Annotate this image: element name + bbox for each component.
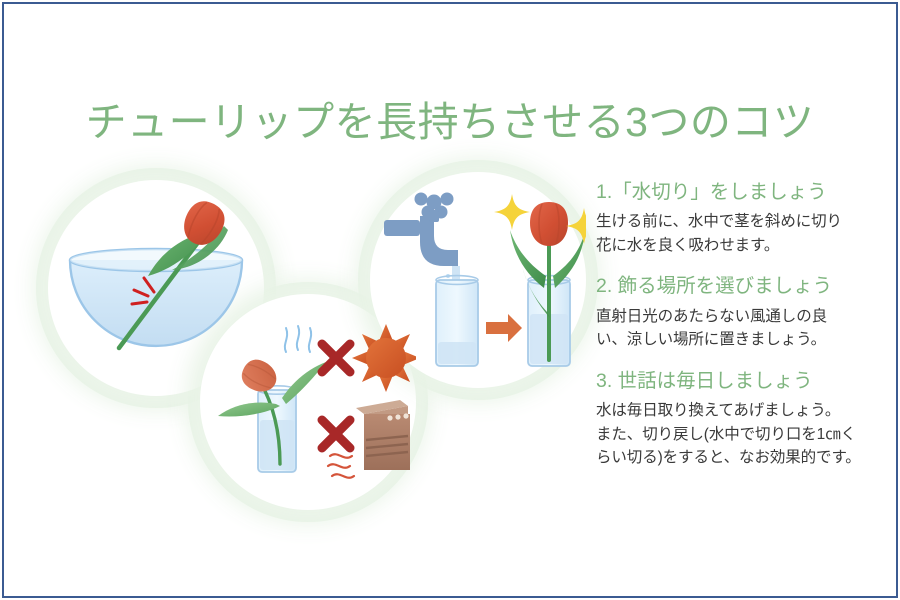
fresh-bloom (530, 202, 568, 246)
arrow-icon (486, 314, 522, 342)
tip-body-3-line-2: また、切り戻し(水中で切り口を1㎝く (596, 423, 876, 447)
scene-change-water (370, 172, 586, 388)
tips-list: 1.「水切り」をしましょう 生ける前に、水中で茎を斜めに切り 花に水を良く吸わせ… (596, 180, 876, 470)
tip-item-1: 1.「水切り」をしましょう 生ける前に、水中で茎を斜めに切り 花に水を良く吸わせ… (596, 180, 876, 257)
faucet-icon (384, 193, 458, 267)
heater-icon (356, 400, 410, 470)
infographic-page: チューリップを長持ちさせる3つのコツ (0, 0, 900, 600)
tip-body-2-line-1: 直射日光のあたらない風通しの良 (596, 305, 876, 329)
tip-heading-3: 3. 世話は毎日しましょう (596, 369, 876, 394)
tip-body-3-line-3: らい切る)をすると、なお効果的です。 (596, 446, 876, 470)
empty-glass (436, 276, 478, 366)
tip-item-2: 2. 飾る場所を選びましょう 直射日光のあたらない風通しの良 い、涼しい場所に置… (596, 274, 876, 351)
tip-body-2-line-2: い、涼しい場所に置きましょう。 (596, 328, 876, 352)
tip-body-2: 直射日光のあたらない風通しの良 い、涼しい場所に置きましょう。 (596, 305, 876, 352)
tip-body-3-line-1: 水は毎日取り換えてあげましょう。 (596, 399, 876, 423)
heat-wave-lines (328, 454, 354, 477)
tip-item-3: 3. 世話は毎日しましょう 水は毎日取り換えてあげましょう。 また、切り戻し(水… (596, 369, 876, 470)
tip-body-1: 生ける前に、水中で茎を斜めに切り 花に水を良く吸わせます。 (596, 210, 876, 257)
tip-heading-1: 1.「水切り」をしましょう (596, 180, 876, 205)
cross-icon-heater (322, 420, 350, 448)
tip-body-1-line-2: 花に水を良く吸わせます。 (596, 234, 876, 258)
illustration-cluster (40, 150, 590, 510)
tip-heading-2: 2. 飾る場所を選びましょう (596, 274, 876, 299)
tip-body-1-line-1: 生ける前に、水中で茎を斜めに切り (596, 210, 876, 234)
page-title: チューリップを長持ちさせる3つのコツ (0, 100, 900, 146)
tip-body-3: 水は毎日取り換えてあげましょう。 また、切り戻し(水中で切り口を1㎝く らい切る… (596, 399, 876, 470)
cross-icon-sun (322, 344, 350, 372)
heat-shimmer-lines (285, 326, 311, 352)
